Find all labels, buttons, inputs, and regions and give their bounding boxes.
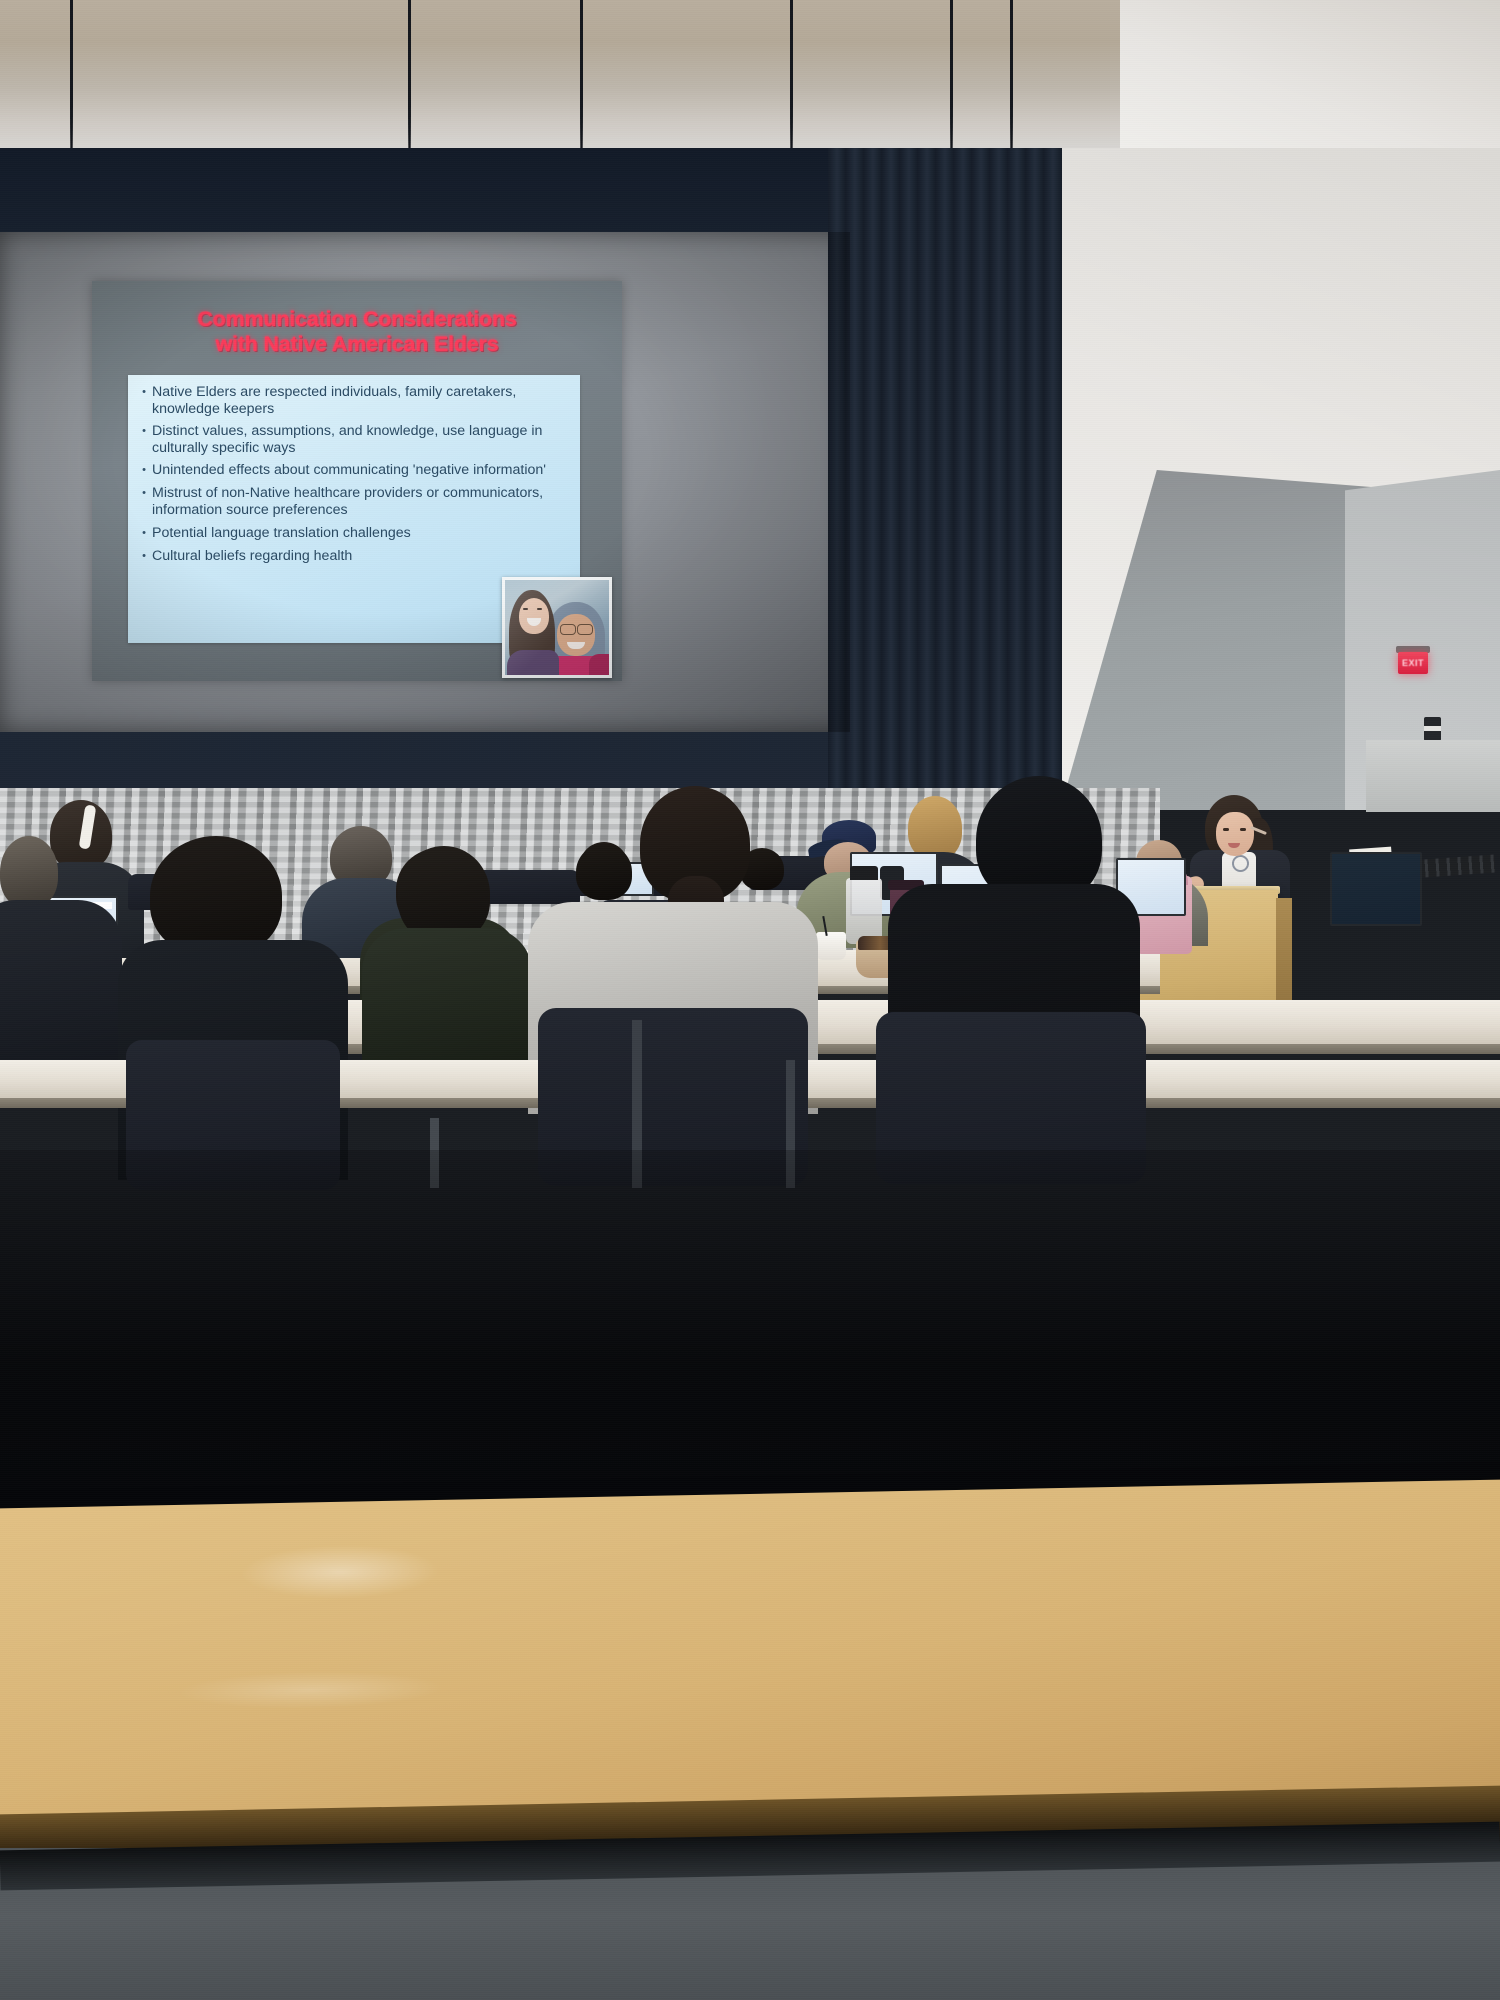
attendee-body: [362, 928, 532, 1078]
bullet-icon: •: [136, 485, 152, 502]
door-frame: [1366, 740, 1500, 812]
speaker-necklace: [1232, 855, 1249, 872]
list-item: • Native Elders are respected individual…: [136, 384, 572, 417]
laptop[interactable]: [1330, 852, 1422, 926]
list-item: • Distinct values, assumptions, and know…: [136, 423, 572, 456]
speaker-face: [1216, 812, 1254, 856]
stage-curtain: [828, 148, 1070, 788]
bullet-text: Distinct values, assumptions, and knowle…: [152, 423, 572, 456]
avatar: [576, 844, 632, 900]
exit-sign-label: EXIT: [1398, 653, 1428, 673]
water-bottle[interactable]: [846, 878, 882, 944]
slide-title: Communication Considerations with Native…: [92, 307, 622, 357]
avatar: [908, 796, 962, 860]
wall-fixture-band: [1424, 726, 1441, 731]
slide-title-line-1: Communication Considerations: [92, 307, 622, 332]
desk-highlight: [240, 1543, 441, 1601]
bullet-icon: •: [136, 423, 152, 440]
bullet-text: Native Elders are respected individuals,…: [152, 384, 572, 417]
speaker-eye-left: [1223, 828, 1229, 831]
ceiling-soffit: [1120, 0, 1500, 150]
desk-highlight: [180, 1670, 441, 1711]
list-item: • Potential language translation challen…: [136, 525, 572, 542]
bullet-text: Mistrust of non-Native healthcare provid…: [152, 485, 572, 518]
podium-side: [1276, 898, 1292, 1010]
list-item: • Mistrust of non-Native healthcare prov…: [136, 485, 572, 518]
list-item: • Unintended effects about communicating…: [136, 462, 572, 479]
bullet-icon: •: [136, 548, 152, 565]
list-item: • Cultural beliefs regarding health: [136, 548, 572, 565]
slide-inset-photo: [502, 577, 612, 678]
bullet-icon: •: [136, 384, 152, 401]
bullet-text: Unintended effects about communicating '…: [152, 462, 572, 479]
bullet-icon: •: [136, 525, 152, 542]
slide-title-line-2: with Native American Elders: [92, 332, 622, 357]
avatar: [0, 836, 58, 908]
bullet-text: Potential language translation challenge…: [152, 525, 572, 542]
bullet-icon: •: [136, 462, 152, 479]
foreground-desk: [0, 1479, 1500, 1839]
coffee-cup[interactable]: [816, 932, 846, 960]
shadow-band: [0, 1150, 1500, 1510]
speaker-eye-right: [1240, 828, 1246, 831]
projected-slide: Communication Considerations with Native…: [92, 281, 622, 681]
bottle-cap-icon: [850, 866, 878, 880]
avatar: [150, 836, 282, 956]
lecture-hall-photo: Communication Considerations with Native…: [0, 0, 1500, 2000]
bullet-text: Cultural beliefs regarding health: [152, 548, 572, 565]
